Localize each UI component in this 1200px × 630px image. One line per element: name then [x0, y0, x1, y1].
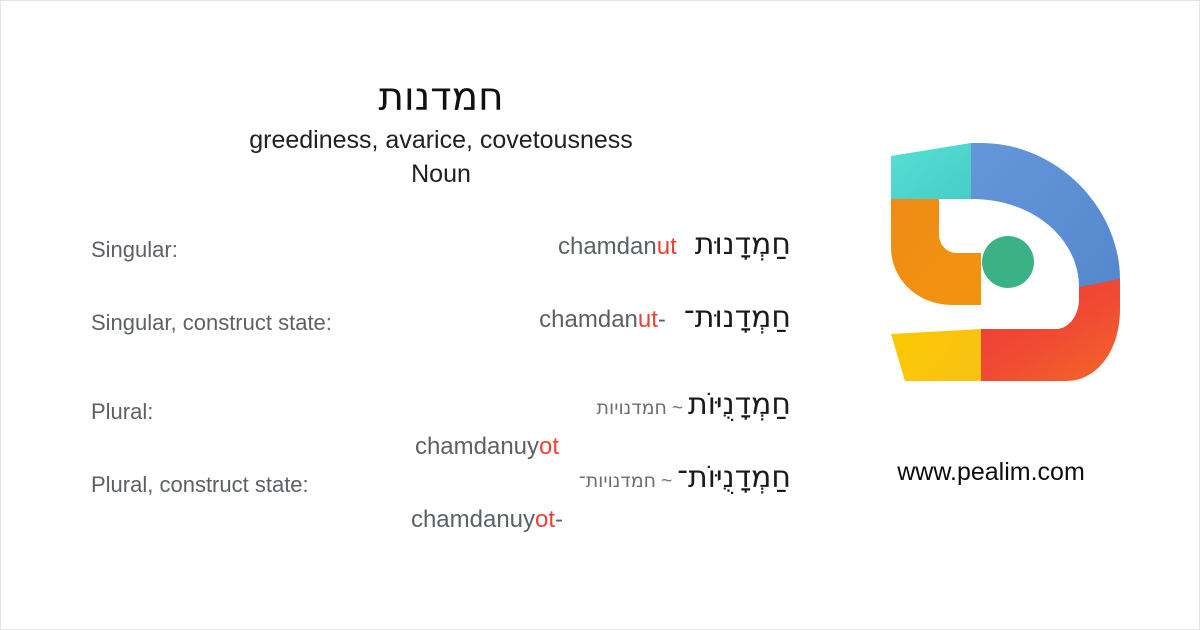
logo-segment-orange-left	[891, 199, 981, 305]
hebrew-vocalized-form: חַמְדָנֻיּוֹת	[688, 387, 791, 422]
logo-segment-teal	[891, 143, 971, 199]
translit-highlight: ot	[535, 506, 555, 533]
part-of-speech: Noun	[1, 157, 881, 191]
translit-base: chamdan	[539, 306, 638, 333]
translit-highlight: ut	[657, 233, 677, 260]
logo-green-dot-icon	[982, 236, 1034, 288]
row-label-plural: Plural:	[91, 399, 153, 425]
row-forms-singular: חַמְדָנוּתchamdanut	[231, 225, 791, 270]
pealim-logo	[861, 119, 1121, 389]
word-card: חמדנות greediness, avarice, covetousness…	[0, 0, 1200, 630]
hebrew-plain-form: חמדנויות־	[579, 470, 656, 492]
logo-segment-red-orange	[981, 279, 1120, 381]
hebrew-vocalized-form: חַמְדָנֻיּוֹת־	[677, 460, 791, 495]
alt-form-separator: ~	[667, 398, 688, 419]
row-forms-plural-construct: חַמְדָנֻיּוֹת־~חמדנויות־ chamdanuyot-	[231, 458, 791, 540]
hebrew-vocalized-form: חַמְדָנוּת	[685, 227, 791, 262]
transliteration: chamdanuyot-	[411, 506, 571, 533]
hebrew-vocalized-form: חַמְדָנוּת־	[674, 300, 791, 335]
table-row: Plural: חַמְדָנֻיּוֹת~חמדנויות chamdanuy…	[1, 383, 801, 456]
translit-suffix: -	[658, 306, 666, 333]
word-translation: greediness, avarice, covetousness	[1, 123, 881, 157]
transliteration: chamdanut	[558, 233, 685, 260]
translit-base: chamdanuy	[411, 506, 535, 533]
translit-base: chamdan	[558, 233, 657, 260]
table-row: Singular, construct state: חַמְדָנוּת־ch…	[1, 310, 801, 383]
alt-form-separator: ~	[656, 471, 677, 492]
page-title-hebrew: חמדנות	[1, 75, 881, 121]
transliteration: chamdanut-	[539, 306, 674, 333]
row-forms-singular-construct: חַמְדָנוּת־chamdanut-	[231, 298, 791, 343]
row-forms-plural: חַמְדָנֻיּוֹת~חמדנויות chamdanuyot	[231, 385, 791, 467]
row-label-singular: Singular:	[91, 237, 178, 263]
translit-highlight: ut	[638, 306, 658, 333]
translit-suffix: -	[555, 506, 563, 533]
card-header: חמדנות greediness, avarice, covetousness…	[1, 75, 881, 191]
hebrew-plain-form: חמדנויות	[597, 397, 667, 419]
forms-table: Singular: חַמְדָנוּתchamdanut Singular, …	[1, 237, 801, 529]
logo-segment-yellow	[891, 329, 981, 381]
pealim-pe-letter-icon	[861, 119, 1121, 389]
site-url: www.pealim.com	[861, 456, 1121, 488]
table-row: Plural, construct state: חַמְדָנֻיּוֹת־~…	[1, 456, 801, 529]
